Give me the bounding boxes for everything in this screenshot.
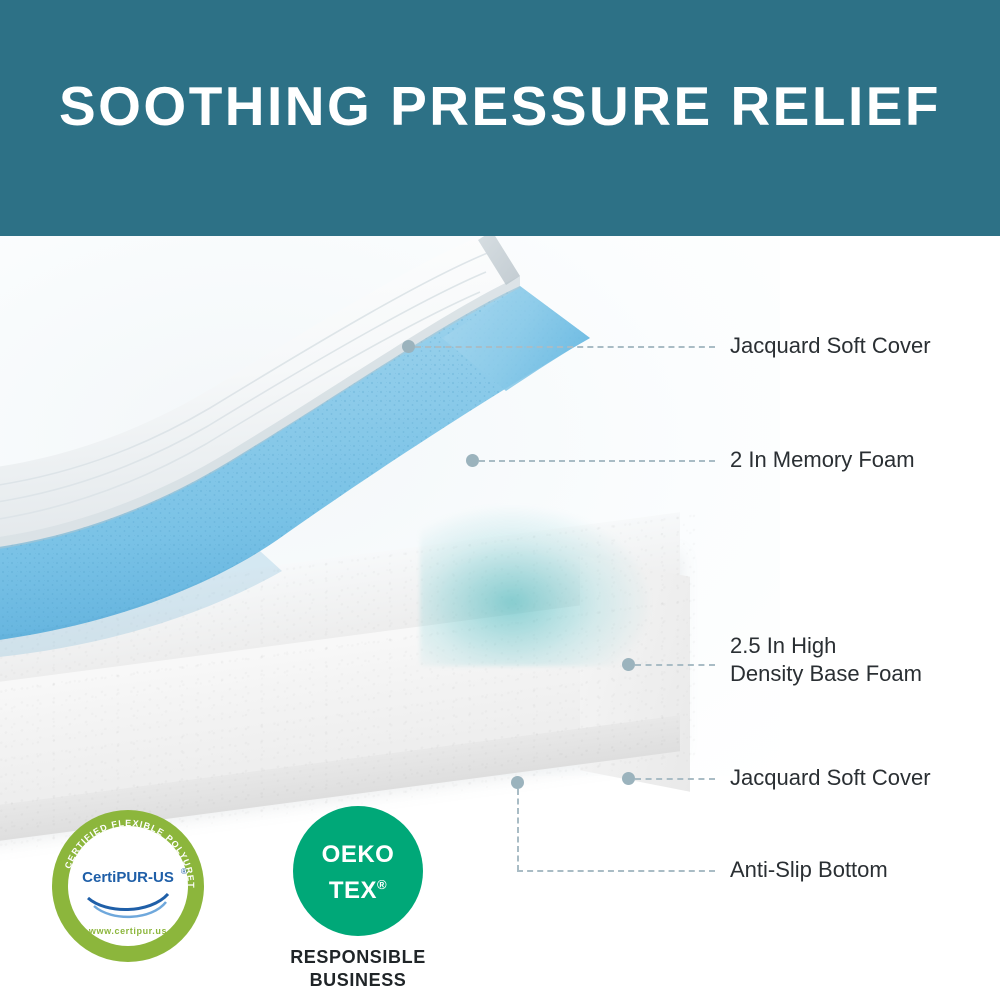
oeko-tex-caption-line1: RESPONSIBLE bbox=[290, 947, 426, 967]
callout-label-cover-bottom: Jacquard Soft Cover bbox=[730, 764, 931, 792]
oeko-tex-text: OEKO TEX® bbox=[293, 840, 423, 906]
callout-dot-cover-bottom bbox=[622, 772, 635, 785]
callout-label-base-foam: 2.5 In High Density Base Foam bbox=[730, 632, 922, 688]
callout-dot-anti-slip bbox=[511, 776, 524, 789]
svg-text:www.certipur.us: www.certipur.us bbox=[88, 926, 167, 936]
callout-label-anti-slip: Anti-Slip Bottom bbox=[730, 856, 888, 884]
oeko-tex-line1: OEKO bbox=[322, 841, 395, 868]
callout-dot-cover-top bbox=[402, 340, 415, 353]
callout-leader-base-foam bbox=[635, 664, 715, 666]
callout-label-memory-foam: 2 In Memory Foam bbox=[730, 446, 915, 474]
callout-leader-anti-slip-vertical bbox=[517, 789, 519, 871]
callout-label-cover-top: Jacquard Soft Cover bbox=[730, 332, 931, 360]
oeko-tex-circle: OEKO TEX® bbox=[293, 806, 423, 936]
header-banner: SOOTHING PRESSURE RELIEF bbox=[0, 0, 1000, 236]
callout-dot-memory-foam bbox=[466, 454, 479, 467]
callout-leader-anti-slip bbox=[517, 870, 715, 872]
callout-leader-memory-foam bbox=[479, 460, 715, 462]
oeko-tex-badge: OEKO TEX® RESPONSIBLE BUSINESS bbox=[268, 806, 448, 996]
product-image: Jacquard Soft Cover 2 In Memory Foam 2.5… bbox=[0, 236, 1000, 1000]
jacquard-cover-layer bbox=[0, 236, 650, 666]
callout-leader-cover-top bbox=[415, 346, 715, 348]
svg-text:CertiPUR-US: CertiPUR-US bbox=[82, 869, 174, 886]
oeko-tex-caption-line2: BUSINESS bbox=[310, 970, 407, 990]
page-title: SOOTHING PRESSURE RELIEF bbox=[0, 74, 1000, 138]
certipur-us-badge: CERTIFIED FLEXIBLE POLYURETHANE FOAM CON… bbox=[48, 806, 208, 966]
oeko-tex-caption: RESPONSIBLE BUSINESS bbox=[268, 946, 448, 992]
product-infographic: SOOTHING PRESSURE RELIEF bbox=[0, 0, 1000, 1000]
oeko-tex-registered-mark: ® bbox=[377, 877, 387, 892]
callout-dot-base-foam bbox=[622, 658, 635, 671]
callout-leader-cover-bottom bbox=[635, 778, 715, 780]
svg-text:®: ® bbox=[181, 867, 187, 876]
oeko-tex-line2: TEX bbox=[329, 877, 377, 904]
